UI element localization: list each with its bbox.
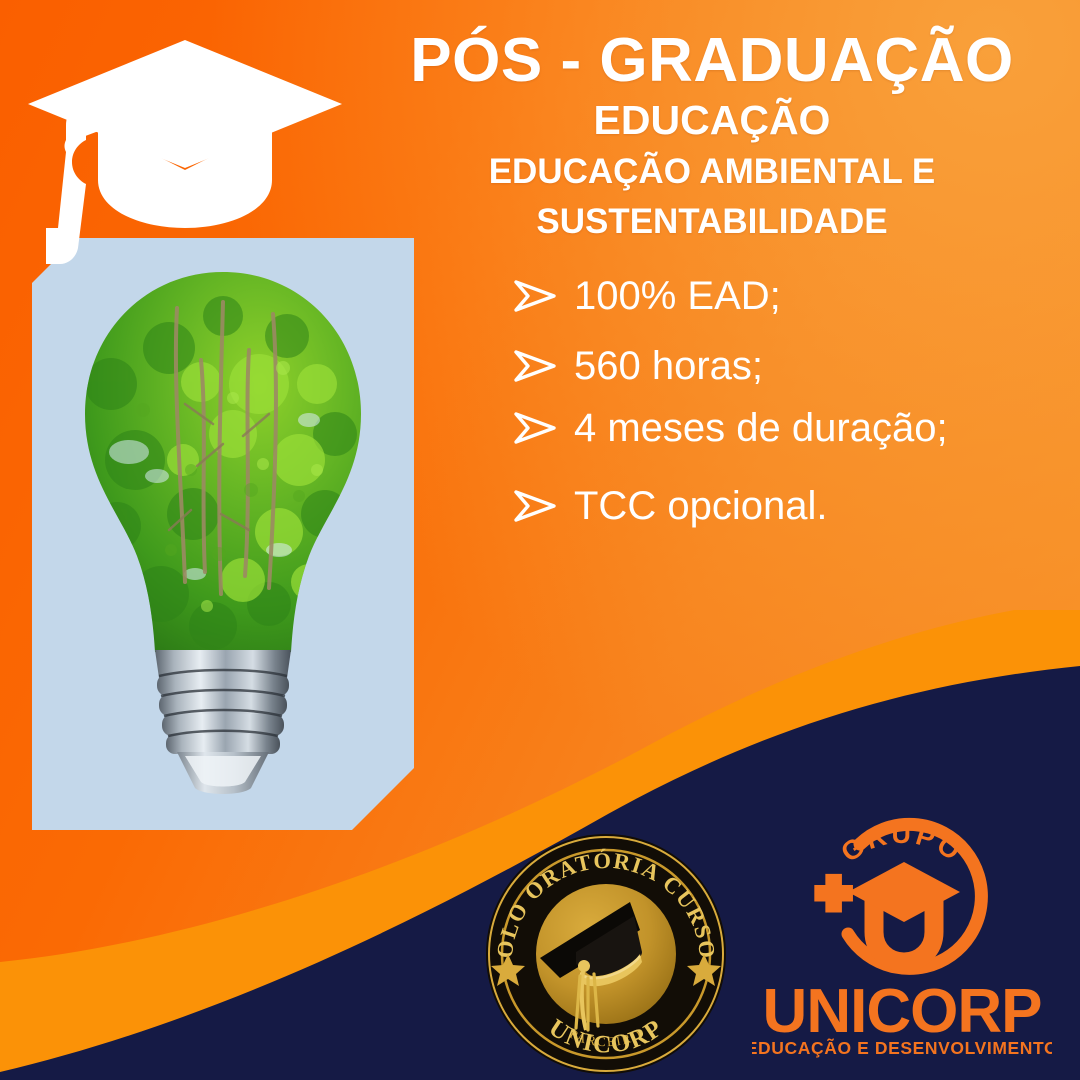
list-item: TCC opcional. xyxy=(512,486,1052,526)
bulb-metal-base xyxy=(155,650,291,794)
foliage-mass xyxy=(73,264,373,664)
list-item-label: 100% EAD; xyxy=(574,276,781,316)
unicorp-logo-graphic: GRUPO UNICORP EDUCAÇÃO E DESENVOLVIMENTO xyxy=(752,800,1052,1062)
arrowhead-right-icon xyxy=(512,411,558,445)
course-name-line-1: EDUCAÇÃO AMBIENTAL E xyxy=(372,150,1052,194)
unicorp-tagline: EDUCAÇÃO E DESENVOLVIMENTO xyxy=(752,1037,1052,1058)
program-area: EDUCAÇÃO xyxy=(372,98,1052,144)
leaf-lightbulb-image xyxy=(73,264,373,804)
list-item: 4 meses de duração; xyxy=(512,408,1052,448)
arrowhead-right-icon xyxy=(512,279,558,313)
list-item-label: 560 horas; xyxy=(574,346,763,386)
headline-block: PÓS - GRADUAÇÃO EDUCAÇÃO EDUCAÇÃO AMBIEN… xyxy=(372,28,1052,244)
list-item: 560 horas; xyxy=(512,346,1052,386)
partner-seal-icon: POLO ORATÓRIA CURSOS PARCEIRO UNICORP xyxy=(484,832,728,1076)
partner-seal-graphic: POLO ORATÓRIA CURSOS PARCEIRO UNICORP xyxy=(484,832,728,1076)
poster-canvas: PÓS - GRADUAÇÃO EDUCAÇÃO EDUCAÇÃO AMBIEN… xyxy=(0,0,1080,1080)
arrowhead-right-icon xyxy=(512,489,558,523)
course-features-list: 100% EAD; 560 horas; 4 meses de duração;… xyxy=(512,276,1052,526)
leaf-lightbulb-graphic xyxy=(73,264,373,804)
graduation-cap-graphic xyxy=(20,22,350,272)
course-name-line-2: SUSTENTABILIDADE xyxy=(372,200,1052,244)
arrowhead-right-icon xyxy=(512,349,558,383)
list-item-label: 4 meses de duração; xyxy=(574,408,948,448)
plus-badge-icon xyxy=(814,874,853,913)
list-item: 100% EAD; xyxy=(512,276,1052,316)
list-item-label: TCC opcional. xyxy=(574,486,827,526)
course-image-panel xyxy=(32,238,414,830)
page-title: PÓS - GRADUAÇÃO xyxy=(372,28,1052,94)
unicorp-wordmark: UNICORP xyxy=(763,977,1042,1046)
unicorp-logo: GRUPO UNICORP EDUCAÇÃO E DESENVOLVIMENTO xyxy=(752,800,1052,1062)
graduation-cap-icon xyxy=(20,22,350,272)
